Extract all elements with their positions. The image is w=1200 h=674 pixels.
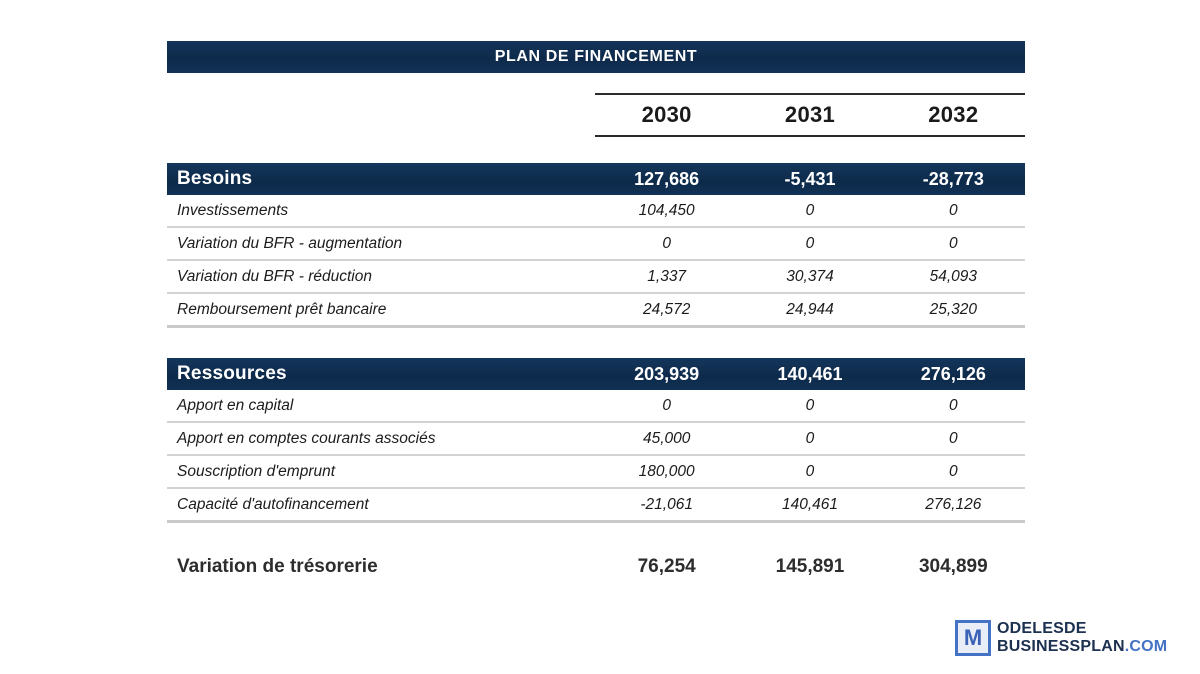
year-header-spacer [167,93,595,137]
row-value-2032: 54,093 [882,268,1025,286]
section-ressources: Ressources 203,939 140,461 276,126 Appor… [167,358,1025,523]
table-row: Variation du BFR - augmentation 0 0 0 [167,228,1025,261]
column-header-year-2: 2031 [738,102,881,128]
table-row: Souscription d'emprunt 180,000 0 0 [167,456,1025,489]
section-header-besoins-value-2032: -28,773 [882,169,1025,190]
row-label: Apport en capital [167,397,595,415]
column-header-year-3: 2032 [882,102,1025,128]
total-row-value-2031: 145,891 [738,556,881,578]
row-value-2030: -21,061 [595,496,738,514]
section-header-ressources-value-2032: 276,126 [882,364,1025,385]
row-value-2031: 0 [738,430,881,448]
table-row: Variation du BFR - réduction 1,337 30,37… [167,261,1025,294]
row-value-2030: 180,000 [595,463,738,481]
row-value-2031: 24,944 [738,301,881,319]
row-label: Investissements [167,202,595,220]
year-header-row: 2030 2031 2032 [167,93,1025,137]
row-value-2032: 276,126 [882,496,1025,514]
logo-wordmark: ODELESDE BUSINESSPLAN.COM [997,620,1167,656]
total-row-value-2032: 304,899 [882,556,1025,578]
row-label: Variation du BFR - augmentation [167,235,595,253]
row-value-2032: 0 [882,202,1025,220]
section-header-ressources-value-2030: 203,939 [595,364,738,385]
section-header-besoins-label: Besoins [167,168,595,190]
row-value-2032: 0 [882,463,1025,481]
row-label: Capacité d'autofinancement [167,496,595,514]
logo-line-two-text: BUSINESSPLAN [997,638,1125,655]
row-value-2032: 0 [882,430,1025,448]
row-value-2031: 30,374 [738,268,881,286]
logo-m-letter: M [964,627,982,649]
row-value-2030: 1,337 [595,268,738,286]
logo-m-icon: M [955,620,991,656]
total-row-variation-de-tresorerie: Variation de trésorerie 76,254 145,891 3… [167,549,1025,585]
row-value-2030: 0 [595,235,738,253]
row-label: Souscription d'emprunt [167,463,595,481]
total-row-value-2030: 76,254 [595,556,738,578]
section-header-ressources-value-2031: 140,461 [738,364,881,385]
table-row: Capacité d'autofinancement -21,061 140,4… [167,489,1025,523]
column-header-year-1: 2030 [595,102,738,128]
page-title: PLAN DE FINANCEMENT [495,48,698,66]
section-header-besoins-value-2030: 127,686 [595,169,738,190]
table-title-banner: PLAN DE FINANCEMENT [167,41,1025,73]
row-label: Variation du BFR - réduction [167,268,595,286]
row-value-2031: 140,461 [738,496,881,514]
row-label: Remboursement prêt bancaire [167,301,595,319]
section-header-ressources-label: Ressources [167,363,595,385]
logo-line-one: ODELESDE [997,620,1167,638]
row-value-2030: 24,572 [595,301,738,319]
table-row: Remboursement prêt bancaire 24,572 24,94… [167,294,1025,328]
row-value-2031: 0 [738,202,881,220]
section-besoins: Besoins 127,686 -5,431 -28,773 Investiss… [167,163,1025,328]
row-value-2030: 0 [595,397,738,415]
row-value-2031: 0 [738,397,881,415]
section-header-ressources: Ressources 203,939 140,461 276,126 [167,358,1025,390]
row-value-2032: 0 [882,235,1025,253]
row-value-2030: 104,450 [595,202,738,220]
row-value-2032: 0 [882,397,1025,415]
section-header-besoins-value-2031: -5,431 [738,169,881,190]
plan-de-financement-table: PLAN DE FINANCEMENT 2030 2031 2032 Besoi… [167,41,1025,585]
financial-plan-slide: PLAN DE FINANCEMENT 2030 2031 2032 Besoi… [0,0,1200,674]
year-header-cells: 2030 2031 2032 [595,93,1025,137]
table-row: Apport en capital 0 0 0 [167,390,1025,423]
logo-tld: .COM [1125,638,1168,655]
logo-line-two: BUSINESSPLAN.COM [997,638,1167,656]
table-row: Investissements 104,450 0 0 [167,195,1025,228]
row-value-2031: 0 [738,463,881,481]
modelesdebusinessplan-logo[interactable]: M ODELESDE BUSINESSPLAN.COM [955,620,1167,656]
section-header-besoins: Besoins 127,686 -5,431 -28,773 [167,163,1025,195]
row-value-2030: 45,000 [595,430,738,448]
table-row: Apport en comptes courants associés 45,0… [167,423,1025,456]
row-value-2031: 0 [738,235,881,253]
total-row-label: Variation de trésorerie [167,556,595,578]
row-value-2032: 25,320 [882,301,1025,319]
row-label: Apport en comptes courants associés [167,430,595,448]
